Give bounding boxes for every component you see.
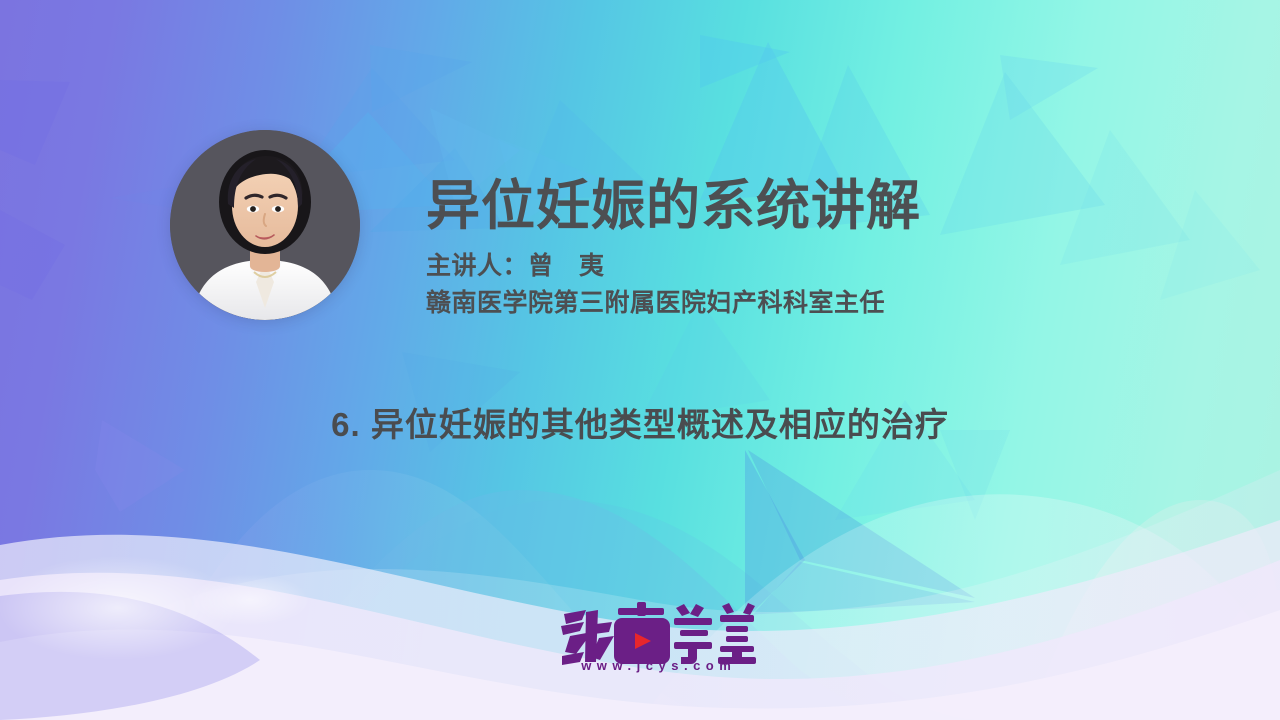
- title-slide: 异位妊娠的系统讲解 主讲人：曾 夷 赣南医学院第三附属医院妇产科科室主任 6. …: [0, 0, 1280, 720]
- chapter-heading: 6. 异位妊娠的其他类型概述及相应的治疗: [0, 398, 1280, 446]
- page-title: 异位妊娠的系统讲解: [426, 176, 1126, 236]
- avatar: [170, 130, 360, 320]
- title-block: 异位妊娠的系统讲解 主讲人：曾 夷 赣南医学院第三附属医院妇产科科室主任: [426, 176, 1126, 321]
- speaker-name: 主讲人：曾 夷: [426, 250, 1126, 284]
- brand-url: www.jcys.com: [556, 658, 756, 673]
- brand-logo[interactable]: www.jcys.com: [556, 602, 756, 684]
- speaker-affiliation: 赣南医学院第三附属医院妇产科科室主任: [426, 287, 1126, 321]
- speaker-portrait-image: [170, 130, 360, 320]
